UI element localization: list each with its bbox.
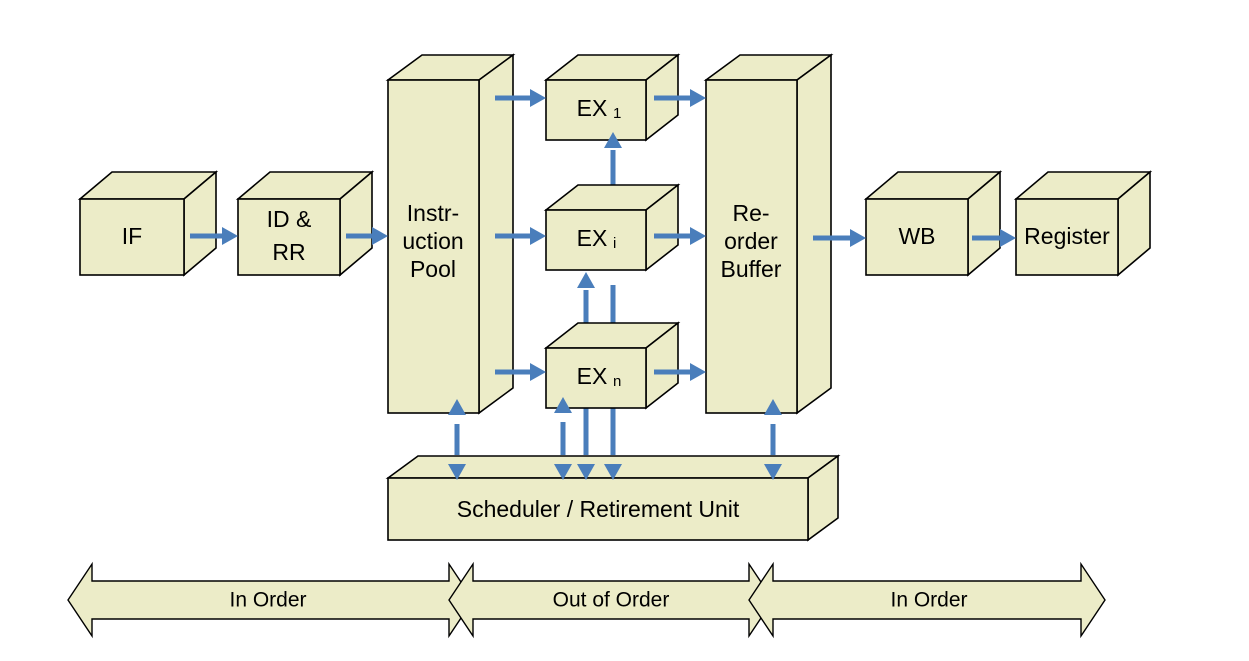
band-in-order-back-label: In Order <box>890 589 967 612</box>
box-ex-1-label-subscript: 1 <box>613 105 621 122</box>
arrow-ex-n-to-scheduler <box>554 397 572 480</box>
band-out-of-order-label: Out of Order <box>553 589 670 612</box>
box-id-rr[interactable]: ID & RR <box>238 172 372 275</box>
box-ex-n-label: EX <box>577 363 608 389</box>
box-wb-label: WB <box>898 223 935 249</box>
box-reorder-buffer-label-line2: order <box>724 228 778 254</box>
box-wb[interactable]: WB <box>866 172 1000 275</box>
band-out-of-order[interactable]: Out of Order <box>449 564 773 636</box>
box-ex-n-label-subscript: n <box>613 373 621 390</box>
box-ex-1-label: EX <box>577 95 608 121</box>
box-ex-n[interactable]: EX n <box>546 323 678 408</box>
box-instruction-pool-label-line3: Pool <box>410 256 456 282</box>
box-register-label: Register <box>1024 223 1110 249</box>
box-id-rr-label-line1: ID & <box>267 206 312 232</box>
box-ex-i-label: EX <box>577 225 608 251</box>
phase-band-row: In Order Out of Order In Order <box>68 564 1105 636</box>
arrow-ex-n-to-ex-i <box>577 272 595 288</box>
diagram-canvas: IF ID & RR Instr- uction Pool EX 1 EX i <box>0 0 1249 661</box>
box-reorder-buffer[interactable]: Re- order Buffer <box>706 55 831 413</box>
box-reorder-buffer-label-line1: Re- <box>732 200 769 226</box>
box-instruction-pool-label-line2: uction <box>402 228 463 254</box>
band-in-order-front[interactable]: In Order <box>68 564 473 636</box>
box-ex-i[interactable]: EX i <box>546 185 678 270</box>
band-in-order-front-label: In Order <box>229 589 306 612</box>
pipeline-diagram: IF ID & RR Instr- uction Pool EX 1 EX i <box>0 0 1249 661</box>
box-register[interactable]: Register <box>1016 172 1150 275</box>
box-instruction-pool[interactable]: Instr- uction Pool <box>388 55 513 413</box>
box-id-rr-label-line2: RR <box>272 239 305 265</box>
arrow-instruction-pool-to-scheduler <box>448 399 466 480</box>
box-reorder-buffer-label-line3: Buffer <box>721 256 782 282</box>
box-scheduler-label: Scheduler / Retirement Unit <box>457 496 740 522</box>
band-in-order-back[interactable]: In Order <box>749 564 1105 636</box>
box-if-label: IF <box>122 223 142 249</box>
box-ex-i-label-subscript: i <box>613 235 616 252</box>
arrow-reorder-buffer-to-scheduler <box>764 399 782 480</box>
connector-arrows <box>190 89 1016 480</box>
box-instruction-pool-label-line1: Instr- <box>407 200 459 226</box>
box-if[interactable]: IF <box>80 172 216 275</box>
